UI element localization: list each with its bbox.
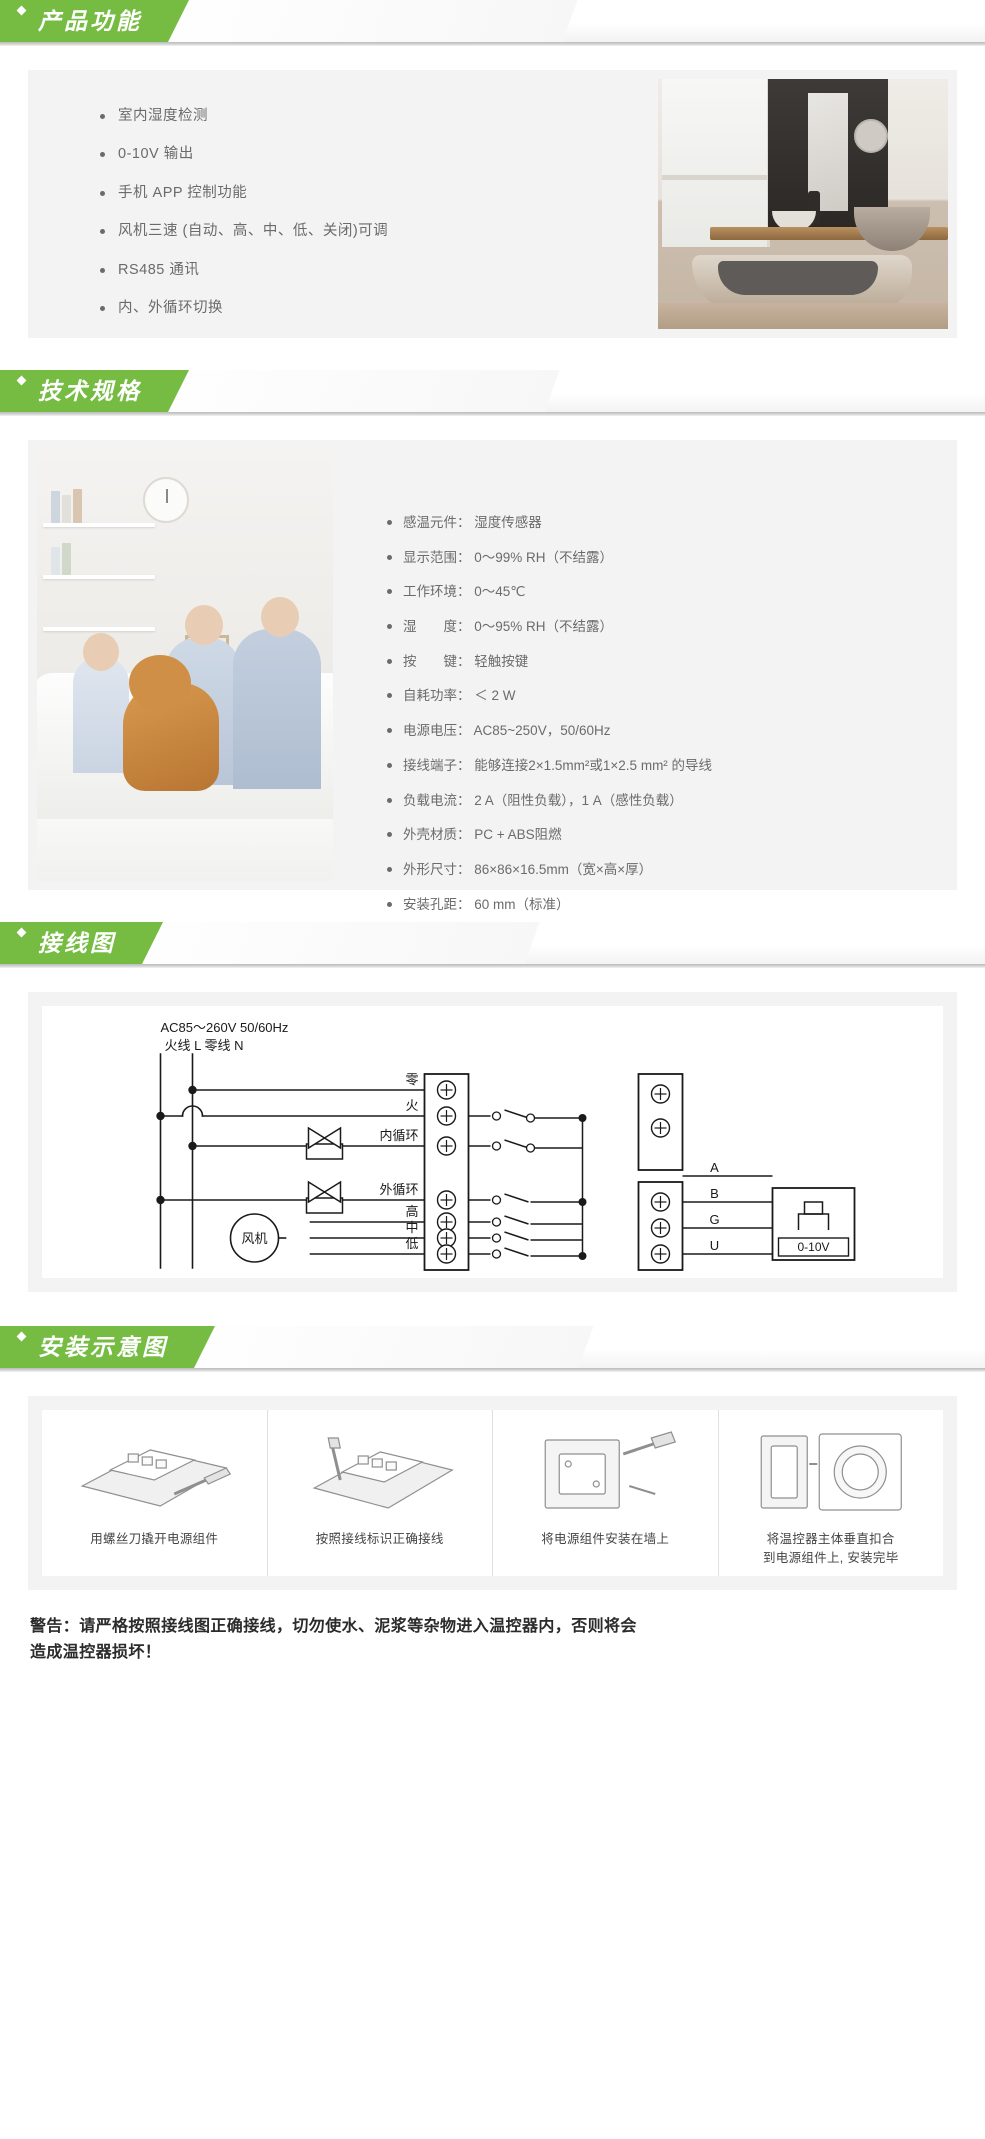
banner-underline	[0, 412, 985, 416]
spec-value: 湿度传感器	[474, 515, 542, 530]
spec-key: 工作环境：	[403, 584, 471, 600]
spec-value: PC + ABS阻燃	[474, 827, 561, 842]
install-card: 用螺丝刀撬开电源组件	[28, 1396, 957, 1590]
section-header-install: 安装示意图	[0, 1326, 985, 1372]
banner-label-install: 安装示意图	[0, 1326, 194, 1368]
label-live: 火	[405, 1098, 418, 1113]
banner-label-specs: 技术规格	[0, 370, 168, 412]
list-item: 电源电压： AC85~250V，50/60Hz	[387, 723, 948, 739]
label-low: 低	[405, 1236, 418, 1251]
child-figure	[73, 657, 129, 773]
wiring-diagram: 风机	[42, 1006, 943, 1278]
list-item: 自耗功率： ＜ 2 W	[387, 688, 948, 704]
label-mid: 中	[405, 1220, 418, 1235]
spec-value: 2 A（阻性负载），1 A（感性负载）	[474, 793, 683, 808]
warning-line-1: 警告：请严格按照接线图正确接线，切勿使水、泥浆等杂物进入温控器内，否则将会	[30, 1614, 955, 1640]
spec-key: 湿 度：	[403, 619, 471, 635]
spec-key: 外形尺寸：	[403, 862, 471, 878]
list-item: 外壳材质： PC + ABS阻燃	[387, 827, 948, 843]
spec-key: 按 键：	[403, 654, 471, 670]
label-inner-loop: 内循环	[379, 1128, 418, 1143]
warning-line-2: 造成温控器损坏！	[30, 1640, 955, 1666]
father-figure	[233, 629, 321, 789]
list-item: 安装孔距： 60 mm（标准）	[387, 897, 948, 913]
section-title-install: 安装示意图	[38, 1334, 168, 1360]
terminal-label-a: A	[710, 1160, 719, 1175]
list-item: 工作环境： 0～45℃	[387, 584, 948, 600]
install-illustration-1	[48, 1424, 261, 1516]
spec-value: ＜ 2 W	[474, 688, 515, 703]
list-item: 负载电流： 2 A（阻性负载），1 A（感性负载）	[387, 793, 948, 809]
spec-value: 能够连接2×1.5mm²或1×2.5 mm² 的导线	[474, 758, 712, 773]
banner-sheen	[104, 922, 539, 964]
list-item: 0-10V 输出	[100, 146, 658, 163]
spec-key: 感温元件：	[403, 515, 471, 531]
install-step-4: 将温控器主体垂直扣合 到电源组件上, 安装完毕	[719, 1410, 944, 1576]
spec-value: 60 mm（标准）	[474, 897, 569, 912]
install-illustration-4	[725, 1424, 938, 1516]
install-illustration-2	[274, 1424, 487, 1516]
terminal-label-b: B	[710, 1186, 719, 1201]
section-title-specs: 技术规格	[38, 378, 142, 404]
spec-value: 0～45℃	[474, 584, 525, 599]
terminal-label-g: G	[709, 1212, 719, 1227]
diamond-icon	[17, 6, 27, 16]
list-item: 感温元件： 湿度传感器	[387, 515, 948, 531]
install-steps-row: 用螺丝刀撬开电源组件	[42, 1410, 943, 1576]
spec-key: 负载电流：	[403, 793, 471, 809]
label-null: 零	[405, 1072, 418, 1087]
section-header-specs: 技术规格	[0, 370, 985, 416]
list-item: 风机三速 (自动、高、中、低、关闭)可调	[100, 223, 658, 240]
product-spec-page: 产品功能 室内湿度检测 0-10V 输出 手机 APP 控制功能 风机三速 (自…	[0, 0, 985, 1695]
section-title-features: 产品功能	[38, 8, 142, 34]
spec-value: AC85~250V，50/60Hz	[474, 723, 611, 738]
spec-key: 自耗功率：	[403, 688, 471, 704]
fan-label: 风机	[241, 1231, 267, 1246]
install-caption: 将温控器主体垂直扣合 到电源组件上, 安装完毕	[725, 1528, 938, 1566]
list-item: RS485 通讯	[100, 262, 658, 279]
section-header-wiring: 接线图	[0, 922, 985, 968]
spec-value: 0～95% RH（不结露）	[474, 619, 613, 634]
banner-underline	[0, 42, 985, 46]
banner-underline	[0, 1368, 985, 1372]
list-item: 外形尺寸： 86×86×16.5mm（宽×高×厚）	[387, 862, 948, 878]
banner-label-wiring: 接线图	[0, 922, 142, 964]
terminal-label-u: U	[710, 1238, 719, 1253]
install-caption: 按照接线标识正确接线	[274, 1528, 487, 1547]
list-item: 手机 APP 控制功能	[100, 185, 658, 202]
list-item: 显示范围： 0～99% RH（不结露）	[387, 550, 948, 566]
section-header-features: 产品功能	[0, 0, 985, 46]
install-caption: 用螺丝刀撬开电源组件	[48, 1528, 261, 1547]
spec-key: 接线端子：	[403, 758, 471, 774]
diamond-icon	[17, 928, 27, 938]
list-item: 湿 度： 0～95% RH（不结露）	[387, 619, 948, 635]
features-text-column: 室内湿度检测 0-10V 输出 手机 APP 控制功能 风机三速 (自动、高、中…	[28, 70, 658, 338]
banner-sheen	[142, 0, 577, 42]
spec-value: 0～99% RH（不结露）	[474, 550, 613, 565]
supply-voltage-label: AC85～260V 50/60Hz	[161, 1020, 289, 1035]
install-step-2: 按照接线标识正确接线	[268, 1410, 494, 1576]
install-step-1: 用螺丝刀撬开电源组件	[42, 1410, 268, 1576]
diamond-icon	[17, 1332, 27, 1342]
banner-sheen	[158, 1326, 593, 1368]
list-item: 接线端子： 能够连接2×1.5mm²或1×2.5 mm² 的导线	[387, 758, 948, 774]
spec-key: 电源电压：	[403, 723, 471, 739]
section-title-wiring: 接线图	[38, 930, 116, 956]
banner-label-features: 产品功能	[0, 0, 168, 42]
round-mirror	[854, 119, 888, 153]
specs-text-column: 感温元件： 湿度传感器 显示范围： 0～99% RH（不结露） 工作环境： 0～…	[333, 449, 948, 881]
family-photo	[37, 449, 333, 881]
list-item: 内、外循环切换	[100, 300, 658, 317]
label-high: 高	[405, 1204, 418, 1219]
list-item: 按 键： 轻触按键	[387, 654, 948, 670]
banner-sheen	[124, 370, 559, 412]
wall-clock	[143, 477, 189, 523]
list-item: 室内湿度检测	[100, 108, 658, 125]
bathroom-photo	[658, 79, 948, 329]
supply-wires-label: 火线 L 零线 N	[165, 1038, 244, 1053]
specs-card: 感温元件： 湿度传感器 显示范围： 0～99% RH（不结露） 工作环境： 0～…	[28, 440, 957, 890]
features-card: 室内湿度检测 0-10V 输出 手机 APP 控制功能 风机三速 (自动、高、中…	[28, 70, 957, 338]
wiring-card: 风机	[28, 992, 957, 1292]
warning-text: 警告：请严格按照接线图正确接线，切勿使水、泥浆等杂物进入温控器内，否则将会 造成…	[30, 1614, 955, 1667]
features-list: 室内湿度检测 0-10V 输出 手机 APP 控制功能 风机三速 (自动、高、中…	[100, 108, 658, 317]
install-caption: 将电源组件安装在墙上	[499, 1528, 712, 1547]
install-illustration-3	[499, 1424, 712, 1516]
label-outer-loop: 外循环	[379, 1182, 418, 1197]
specs-list: 感温元件： 湿度传感器 显示范围： 0～99% RH（不结露） 工作环境： 0～…	[387, 515, 948, 947]
spec-value: 86×86×16.5mm（宽×高×厚）	[474, 862, 652, 877]
spec-key: 外壳材质：	[403, 827, 471, 843]
spec-value: 轻触按键	[474, 654, 528, 669]
spec-key: 安装孔距：	[403, 897, 471, 913]
install-step-3: 将电源组件安装在墙上	[493, 1410, 719, 1576]
spec-key: 显示范围：	[403, 550, 471, 566]
banner-underline	[0, 964, 985, 968]
module-label: 0-10V	[797, 1240, 829, 1254]
diamond-icon	[17, 376, 27, 386]
